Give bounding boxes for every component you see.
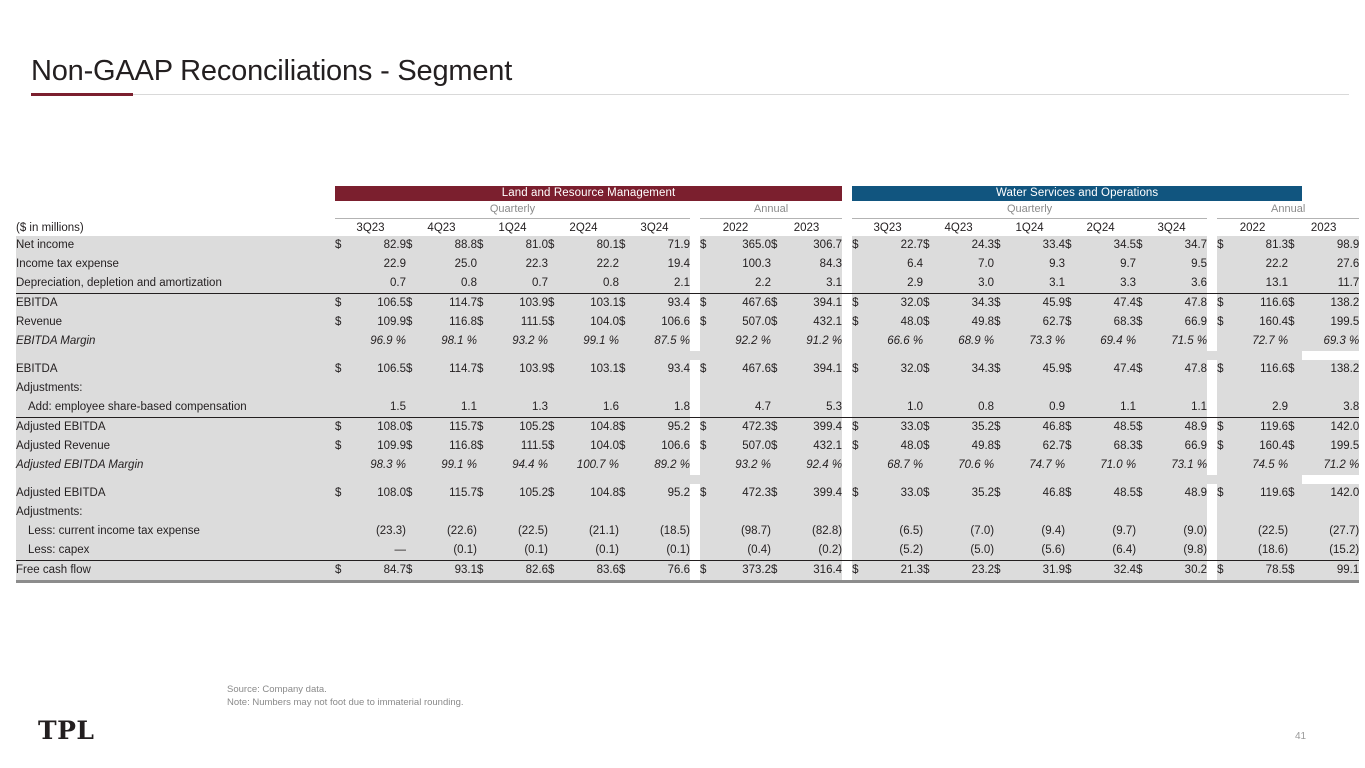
lrm-annual-currency-1 bbox=[771, 456, 785, 475]
lrm-annual-currency-0: $ bbox=[700, 418, 714, 438]
wso-quarterly-value-0: 32.0 bbox=[866, 360, 923, 379]
wso-annual-value-1: 99.1 bbox=[1302, 561, 1359, 582]
lrm-annual-currency-1: $ bbox=[771, 484, 785, 503]
lrm-quarterly-currency-1 bbox=[406, 456, 420, 475]
lrm-quarterly-currency-1 bbox=[406, 274, 420, 294]
lrm-quarterly-value-3 bbox=[562, 503, 619, 522]
lrm-quarterly-currency-2 bbox=[477, 456, 491, 475]
wso-quarterly-value-2: (9.4) bbox=[1008, 522, 1065, 541]
wso-annual-currency-1 bbox=[1288, 255, 1302, 274]
wso-annual-currency-0 bbox=[1217, 503, 1231, 522]
lrm-quarterly-currency-4: $ bbox=[619, 418, 633, 438]
wso-quarterly-value-3: 48.5 bbox=[1079, 484, 1136, 503]
wso-annual-value-1: 27.6 bbox=[1302, 255, 1359, 274]
wso-quarterly-currency-2 bbox=[994, 255, 1008, 274]
wso-quarterly-currency-1 bbox=[923, 379, 937, 398]
lrm-quarterly-currency-0: $ bbox=[335, 418, 349, 438]
wso-annual-value-1: 3.8 bbox=[1302, 398, 1359, 418]
wso-quarterly-currency-4: $ bbox=[1136, 418, 1150, 438]
lrm-quarterly-currency-4 bbox=[619, 379, 633, 398]
lrm-quarterly-value-0: 0.7 bbox=[349, 274, 406, 294]
wso-quarterly-value-0: 68.7 % bbox=[866, 456, 923, 475]
group-header-annual-lrm: Annual bbox=[700, 201, 842, 219]
lrm-annual-currency-1 bbox=[771, 332, 785, 351]
lrm-annual-currency-1 bbox=[771, 522, 785, 541]
lrm-quarterly-value-2: 105.2 bbox=[491, 418, 548, 438]
lrm-quarterly-value-2 bbox=[491, 379, 548, 398]
lrm-quarterly-currency-1 bbox=[406, 379, 420, 398]
lrm-annual-value-0: 92.2 % bbox=[714, 332, 771, 351]
wso-quarterly-currency-2: $ bbox=[994, 313, 1008, 332]
lrm-quarterly-value-2: (0.1) bbox=[491, 541, 548, 561]
wso-quarterly-currency-2 bbox=[994, 274, 1008, 294]
table-row: Income tax expense22.925.022.322.219.410… bbox=[16, 255, 1359, 274]
wso-quarterly-currency-0 bbox=[852, 255, 866, 274]
lrm-quarterly-currency-2: $ bbox=[477, 236, 491, 255]
table-row: Adjusted EBITDA Margin98.3 %99.1 %94.4 %… bbox=[16, 456, 1359, 475]
lrm-quarterly-currency-1 bbox=[406, 522, 420, 541]
wso-quarterly-value-1: 7.0 bbox=[937, 255, 994, 274]
wso-quarterly-currency-4: $ bbox=[1136, 236, 1150, 255]
lrm-quarterly-value-1: 115.7 bbox=[420, 484, 477, 503]
col-header-wso-1q24: 1Q24 bbox=[994, 219, 1065, 237]
lrm-quarterly-value-2: (22.5) bbox=[491, 522, 548, 541]
lrm-annual-currency-1 bbox=[771, 255, 785, 274]
wso-quarterly-value-2: 9.3 bbox=[1008, 255, 1065, 274]
wso-annual-value-0: 81.3 bbox=[1231, 236, 1288, 255]
wso-quarterly-currency-2: $ bbox=[994, 294, 1008, 314]
lrm-quarterly-value-3: 83.6 bbox=[562, 561, 619, 582]
lrm-quarterly-currency-2: $ bbox=[477, 418, 491, 438]
lrm-quarterly-currency-2 bbox=[477, 398, 491, 418]
lrm-quarterly-currency-4 bbox=[619, 398, 633, 418]
wso-quarterly-value-0: 21.3 bbox=[866, 561, 923, 582]
lrm-quarterly-currency-1 bbox=[406, 332, 420, 351]
row-label: Less: capex bbox=[16, 541, 326, 561]
wso-quarterly-currency-3 bbox=[1065, 456, 1079, 475]
row-label: Adjusted EBITDA bbox=[16, 484, 326, 503]
lrm-quarterly-currency-0: $ bbox=[335, 484, 349, 503]
lrm-quarterly-currency-0 bbox=[335, 379, 349, 398]
lrm-annual-currency-1 bbox=[771, 541, 785, 561]
lrm-annual-currency-1: $ bbox=[771, 561, 785, 582]
wso-annual-value-0: 116.6 bbox=[1231, 360, 1288, 379]
col-header-wso-3q23: 3Q23 bbox=[852, 219, 923, 237]
lrm-annual-currency-1 bbox=[771, 398, 785, 418]
wso-quarterly-value-1: (7.0) bbox=[937, 522, 994, 541]
wso-quarterly-currency-4 bbox=[1136, 398, 1150, 418]
wso-quarterly-value-2 bbox=[1008, 503, 1065, 522]
wso-quarterly-currency-1: $ bbox=[923, 561, 937, 582]
lrm-quarterly-value-2 bbox=[491, 503, 548, 522]
wso-quarterly-currency-3 bbox=[1065, 398, 1079, 418]
lrm-quarterly-value-1: (22.6) bbox=[420, 522, 477, 541]
wso-quarterly-currency-2: $ bbox=[994, 437, 1008, 456]
wso-quarterly-value-1: (5.0) bbox=[937, 541, 994, 561]
lrm-quarterly-value-2: 103.9 bbox=[491, 294, 548, 314]
lrm-quarterly-value-3: 104.0 bbox=[562, 437, 619, 456]
lrm-quarterly-value-0: 106.5 bbox=[349, 360, 406, 379]
wso-quarterly-currency-0 bbox=[852, 522, 866, 541]
wso-quarterly-value-1: 34.3 bbox=[937, 360, 994, 379]
rounding-note: Note: Numbers may not foot due to immate… bbox=[227, 697, 464, 710]
wso-annual-currency-0: $ bbox=[1217, 236, 1231, 255]
wso-annual-value-1: 199.5 bbox=[1302, 437, 1359, 456]
lrm-quarterly-value-3 bbox=[562, 379, 619, 398]
lrm-quarterly-currency-1: $ bbox=[406, 418, 420, 438]
wso-quarterly-currency-2 bbox=[994, 379, 1008, 398]
wso-quarterly-value-3 bbox=[1079, 503, 1136, 522]
lrm-quarterly-currency-3 bbox=[548, 398, 562, 418]
table-row: Revenue$109.9$116.8$111.5$104.0$106.6$50… bbox=[16, 313, 1359, 332]
lrm-annual-currency-1: $ bbox=[771, 313, 785, 332]
wso-quarterly-value-0: (5.2) bbox=[866, 541, 923, 561]
wso-annual-currency-0 bbox=[1217, 398, 1231, 418]
col-header-wso-2q24: 2Q24 bbox=[1065, 219, 1136, 237]
row-label: Adjustments: bbox=[16, 503, 326, 522]
lrm-quarterly-currency-3 bbox=[548, 379, 562, 398]
lrm-quarterly-value-1: 93.1 bbox=[420, 561, 477, 582]
wso-quarterly-currency-0 bbox=[852, 379, 866, 398]
lrm-annual-value-0: 2.2 bbox=[714, 274, 771, 294]
col-header-wso-2022: 2022 bbox=[1217, 219, 1288, 237]
lrm-quarterly-value-1: 114.7 bbox=[420, 294, 477, 314]
lrm-quarterly-currency-0: $ bbox=[335, 313, 349, 332]
wso-quarterly-currency-0: $ bbox=[852, 313, 866, 332]
wso-annual-currency-0 bbox=[1217, 541, 1231, 561]
segment-band-row: Land and Resource Management Water Servi… bbox=[16, 186, 1359, 201]
lrm-quarterly-value-2: 93.2 % bbox=[491, 332, 548, 351]
lrm-quarterly-currency-0 bbox=[335, 456, 349, 475]
wso-annual-currency-0 bbox=[1217, 522, 1231, 541]
lrm-quarterly-currency-2: $ bbox=[477, 484, 491, 503]
lrm-annual-currency-0 bbox=[700, 456, 714, 475]
wso-quarterly-value-2: 74.7 % bbox=[1008, 456, 1065, 475]
wso-quarterly-currency-2 bbox=[994, 541, 1008, 561]
lrm-quarterly-value-4: 19.4 bbox=[633, 255, 690, 274]
wso-quarterly-value-0: 33.0 bbox=[866, 484, 923, 503]
lrm-annual-value-1: 84.3 bbox=[785, 255, 842, 274]
lrm-annual-currency-0: $ bbox=[700, 313, 714, 332]
wso-quarterly-value-4: 66.9 bbox=[1150, 313, 1207, 332]
wso-annual-value-1 bbox=[1302, 503, 1359, 522]
wso-annual-value-1: 199.5 bbox=[1302, 313, 1359, 332]
group-header-quarterly-lrm: Quarterly bbox=[335, 201, 690, 219]
lrm-quarterly-value-4 bbox=[633, 503, 690, 522]
lrm-annual-value-0: 373.2 bbox=[714, 561, 771, 582]
wso-annual-value-1: 138.2 bbox=[1302, 294, 1359, 314]
lrm-quarterly-currency-4 bbox=[619, 274, 633, 294]
lrm-quarterly-value-4: 93.4 bbox=[633, 360, 690, 379]
lrm-annual-currency-0: $ bbox=[700, 236, 714, 255]
lrm-quarterly-currency-3 bbox=[548, 456, 562, 475]
lrm-quarterly-currency-1: $ bbox=[406, 437, 420, 456]
lrm-annual-value-1: 399.4 bbox=[785, 484, 842, 503]
lrm-quarterly-value-1: 0.8 bbox=[420, 274, 477, 294]
row-label: Free cash flow bbox=[16, 561, 326, 582]
lrm-quarterly-value-4: 87.5 % bbox=[633, 332, 690, 351]
page-title: Non-GAAP Reconciliations - Segment bbox=[31, 52, 512, 90]
wso-quarterly-currency-1: $ bbox=[923, 418, 937, 438]
wso-quarterly-currency-3: $ bbox=[1065, 313, 1079, 332]
lrm-quarterly-value-2: 22.3 bbox=[491, 255, 548, 274]
wso-quarterly-currency-2 bbox=[994, 398, 1008, 418]
wso-quarterly-currency-0 bbox=[852, 456, 866, 475]
wso-quarterly-currency-3: $ bbox=[1065, 294, 1079, 314]
lrm-annual-value-0: 507.0 bbox=[714, 313, 771, 332]
lrm-quarterly-value-3: 104.0 bbox=[562, 313, 619, 332]
group-header-quarterly-wso: Quarterly bbox=[852, 201, 1207, 219]
wso-annual-value-1: 71.2 % bbox=[1302, 456, 1359, 475]
wso-quarterly-currency-0: $ bbox=[852, 236, 866, 255]
lrm-quarterly-currency-2: $ bbox=[477, 313, 491, 332]
wso-quarterly-currency-4 bbox=[1136, 503, 1150, 522]
lrm-annual-currency-1 bbox=[771, 503, 785, 522]
wso-annual-currency-1: $ bbox=[1288, 418, 1302, 438]
wso-annual-currency-0: $ bbox=[1217, 561, 1231, 582]
lrm-quarterly-currency-3 bbox=[548, 503, 562, 522]
lrm-quarterly-value-0: 98.3 % bbox=[349, 456, 406, 475]
lrm-quarterly-value-0: 109.9 bbox=[349, 437, 406, 456]
table-row: Less: capex—(0.1)(0.1)(0.1)(0.1)(0.4)(0.… bbox=[16, 541, 1359, 561]
lrm-quarterly-value-4: 89.2 % bbox=[633, 456, 690, 475]
source-note: Source: Company data. bbox=[227, 684, 464, 697]
lrm-quarterly-currency-0 bbox=[335, 255, 349, 274]
table-row: Free cash flow$84.7$93.1$82.6$83.6$76.6$… bbox=[16, 561, 1359, 582]
wso-quarterly-currency-3 bbox=[1065, 255, 1079, 274]
wso-quarterly-value-3: 68.3 bbox=[1079, 437, 1136, 456]
wso-quarterly-value-4: 3.6 bbox=[1150, 274, 1207, 294]
col-header-wso-4q23: 4Q23 bbox=[923, 219, 994, 237]
lrm-annual-currency-1 bbox=[771, 379, 785, 398]
wso-quarterly-currency-4: $ bbox=[1136, 437, 1150, 456]
table-spacer-row bbox=[16, 475, 1359, 484]
row-label: Adjusted Revenue bbox=[16, 437, 326, 456]
table-row: Net income$82.9$88.8$81.0$80.1$71.9$365.… bbox=[16, 236, 1359, 255]
lrm-quarterly-currency-1: $ bbox=[406, 313, 420, 332]
wso-quarterly-value-4: 73.1 % bbox=[1150, 456, 1207, 475]
wso-quarterly-value-0: 6.4 bbox=[866, 255, 923, 274]
lrm-quarterly-value-0: 106.5 bbox=[349, 294, 406, 314]
lrm-quarterly-currency-4 bbox=[619, 255, 633, 274]
lrm-annual-value-0: 472.3 bbox=[714, 418, 771, 438]
wso-quarterly-value-1 bbox=[937, 503, 994, 522]
col-header-wso-3q24: 3Q24 bbox=[1136, 219, 1207, 237]
wso-quarterly-currency-3: $ bbox=[1065, 561, 1079, 582]
wso-quarterly-currency-4 bbox=[1136, 456, 1150, 475]
wso-annual-currency-1 bbox=[1288, 541, 1302, 561]
wso-annual-currency-0 bbox=[1217, 274, 1231, 294]
lrm-quarterly-currency-4: $ bbox=[619, 294, 633, 314]
table-row: Add: employee share-based compensation1.… bbox=[16, 398, 1359, 418]
wso-annual-currency-0 bbox=[1217, 379, 1231, 398]
lrm-quarterly-value-1 bbox=[420, 379, 477, 398]
lrm-annual-value-1: (82.8) bbox=[785, 522, 842, 541]
wso-quarterly-currency-4: $ bbox=[1136, 561, 1150, 582]
wso-quarterly-value-0 bbox=[866, 503, 923, 522]
lrm-annual-value-1: 5.3 bbox=[785, 398, 842, 418]
lrm-annual-currency-0: $ bbox=[700, 437, 714, 456]
wso-quarterly-currency-4: $ bbox=[1136, 313, 1150, 332]
lrm-annual-value-1 bbox=[785, 379, 842, 398]
lrm-quarterly-value-2: 111.5 bbox=[491, 437, 548, 456]
lrm-quarterly-currency-1 bbox=[406, 398, 420, 418]
wso-quarterly-currency-3 bbox=[1065, 541, 1079, 561]
lrm-quarterly-value-4: 95.2 bbox=[633, 418, 690, 438]
wso-quarterly-value-2 bbox=[1008, 379, 1065, 398]
lrm-quarterly-value-0: 109.9 bbox=[349, 313, 406, 332]
wso-quarterly-value-2: 62.7 bbox=[1008, 437, 1065, 456]
lrm-quarterly-value-3: 104.8 bbox=[562, 418, 619, 438]
lrm-quarterly-currency-4: $ bbox=[619, 236, 633, 255]
lrm-quarterly-currency-0: $ bbox=[335, 236, 349, 255]
lrm-annual-currency-0 bbox=[700, 541, 714, 561]
lrm-quarterly-currency-1: $ bbox=[406, 561, 420, 582]
lrm-quarterly-value-2: 1.3 bbox=[491, 398, 548, 418]
wso-quarterly-value-2: 46.8 bbox=[1008, 418, 1065, 438]
wso-annual-value-1: 98.9 bbox=[1302, 236, 1359, 255]
lrm-annual-value-1: 316.4 bbox=[785, 561, 842, 582]
wso-quarterly-currency-1 bbox=[923, 541, 937, 561]
page-number: 41 bbox=[1295, 731, 1306, 742]
wso-annual-currency-1: $ bbox=[1288, 437, 1302, 456]
wso-annual-value-0 bbox=[1231, 379, 1288, 398]
wso-annual-value-1: 142.0 bbox=[1302, 418, 1359, 438]
lrm-quarterly-currency-4: $ bbox=[619, 437, 633, 456]
wso-annual-currency-0: $ bbox=[1217, 360, 1231, 379]
wso-quarterly-value-1: 24.3 bbox=[937, 236, 994, 255]
wso-annual-currency-0: $ bbox=[1217, 437, 1231, 456]
wso-quarterly-value-0: (6.5) bbox=[866, 522, 923, 541]
wso-quarterly-currency-0 bbox=[852, 541, 866, 561]
table-row: Adjustments: bbox=[16, 503, 1359, 522]
lrm-quarterly-currency-2 bbox=[477, 379, 491, 398]
lrm-annual-value-1: 306.7 bbox=[785, 236, 842, 255]
lrm-annual-currency-0 bbox=[700, 255, 714, 274]
col-header-wso-2023: 2023 bbox=[1288, 219, 1359, 237]
wso-quarterly-value-3: 68.3 bbox=[1079, 313, 1136, 332]
wso-quarterly-value-4: (9.8) bbox=[1150, 541, 1207, 561]
lrm-quarterly-value-0: 22.9 bbox=[349, 255, 406, 274]
lrm-quarterly-currency-2: $ bbox=[477, 561, 491, 582]
wso-quarterly-value-2: 3.1 bbox=[1008, 274, 1065, 294]
col-header-lrm-1q24: 1Q24 bbox=[477, 219, 548, 237]
lrm-quarterly-currency-1: $ bbox=[406, 484, 420, 503]
lrm-annual-currency-0: $ bbox=[700, 561, 714, 582]
wso-annual-value-0: 78.5 bbox=[1231, 561, 1288, 582]
lrm-annual-currency-0: $ bbox=[700, 294, 714, 314]
lrm-quarterly-currency-0: $ bbox=[335, 561, 349, 582]
wso-quarterly-value-4: 47.8 bbox=[1150, 294, 1207, 314]
wso-quarterly-value-3: 47.4 bbox=[1079, 294, 1136, 314]
wso-annual-value-0: 160.4 bbox=[1231, 437, 1288, 456]
wso-annual-value-0: (22.5) bbox=[1231, 522, 1288, 541]
lrm-annual-value-1 bbox=[785, 503, 842, 522]
wso-quarterly-value-1: 3.0 bbox=[937, 274, 994, 294]
wso-annual-currency-1 bbox=[1288, 456, 1302, 475]
lrm-quarterly-currency-0 bbox=[335, 522, 349, 541]
wso-annual-value-1: 142.0 bbox=[1302, 484, 1359, 503]
lrm-annual-value-1: 394.1 bbox=[785, 294, 842, 314]
lrm-quarterly-currency-3: $ bbox=[548, 484, 562, 503]
table-row: Adjusted EBITDA$108.0$115.7$105.2$104.8$… bbox=[16, 484, 1359, 503]
wso-quarterly-currency-2: $ bbox=[994, 561, 1008, 582]
wso-quarterly-currency-2 bbox=[994, 503, 1008, 522]
wso-quarterly-currency-1: $ bbox=[923, 313, 937, 332]
wso-quarterly-currency-0 bbox=[852, 503, 866, 522]
lrm-annual-currency-0 bbox=[700, 274, 714, 294]
wso-quarterly-value-0: 66.6 % bbox=[866, 332, 923, 351]
wso-annual-currency-0: $ bbox=[1217, 294, 1231, 314]
segment-band-water-services-and-operations: Water Services and Operations bbox=[852, 186, 1302, 201]
lrm-annual-value-0: 507.0 bbox=[714, 437, 771, 456]
lrm-quarterly-value-3: 99.1 % bbox=[562, 332, 619, 351]
wso-quarterly-currency-0: $ bbox=[852, 360, 866, 379]
wso-quarterly-currency-4: $ bbox=[1136, 360, 1150, 379]
wso-quarterly-value-2: 46.8 bbox=[1008, 484, 1065, 503]
col-header-lrm-2q24: 2Q24 bbox=[548, 219, 619, 237]
lrm-quarterly-value-2: 0.7 bbox=[491, 274, 548, 294]
lrm-quarterly-value-1: 1.1 bbox=[420, 398, 477, 418]
lrm-quarterly-value-2: 105.2 bbox=[491, 484, 548, 503]
lrm-quarterly-currency-4 bbox=[619, 456, 633, 475]
lrm-quarterly-value-3: 1.6 bbox=[562, 398, 619, 418]
wso-quarterly-currency-4 bbox=[1136, 522, 1150, 541]
wso-quarterly-value-0: 1.0 bbox=[866, 398, 923, 418]
lrm-quarterly-currency-0: $ bbox=[335, 437, 349, 456]
wso-quarterly-currency-4 bbox=[1136, 379, 1150, 398]
wso-annual-value-0 bbox=[1231, 503, 1288, 522]
wso-annual-currency-1: $ bbox=[1288, 294, 1302, 314]
wso-quarterly-currency-2 bbox=[994, 456, 1008, 475]
lrm-quarterly-value-4: 106.6 bbox=[633, 313, 690, 332]
lrm-quarterly-value-2: 103.9 bbox=[491, 360, 548, 379]
wso-quarterly-value-4: 9.5 bbox=[1150, 255, 1207, 274]
row-label: Revenue bbox=[16, 313, 326, 332]
lrm-quarterly-value-3: 104.8 bbox=[562, 484, 619, 503]
wso-quarterly-value-3: 34.5 bbox=[1079, 236, 1136, 255]
lrm-annual-value-1: 399.4 bbox=[785, 418, 842, 438]
wso-quarterly-currency-4: $ bbox=[1136, 484, 1150, 503]
wso-quarterly-value-0: 2.9 bbox=[866, 274, 923, 294]
wso-quarterly-currency-1 bbox=[923, 332, 937, 351]
wso-quarterly-currency-0: $ bbox=[852, 437, 866, 456]
wso-quarterly-currency-2 bbox=[994, 332, 1008, 351]
lrm-annual-value-0: 100.3 bbox=[714, 255, 771, 274]
wso-quarterly-currency-0: $ bbox=[852, 561, 866, 582]
wso-annual-value-0: 13.1 bbox=[1231, 274, 1288, 294]
lrm-annual-currency-0: $ bbox=[700, 360, 714, 379]
lrm-quarterly-currency-3: $ bbox=[548, 313, 562, 332]
table-row: EBITDA$106.5$114.7$103.9$103.1$93.4$467.… bbox=[16, 294, 1359, 314]
wso-annual-currency-1: $ bbox=[1288, 561, 1302, 582]
wso-quarterly-value-1: 35.2 bbox=[937, 418, 994, 438]
wso-quarterly-value-3: 47.4 bbox=[1079, 360, 1136, 379]
wso-quarterly-value-0: 48.0 bbox=[866, 313, 923, 332]
wso-quarterly-value-3: 32.4 bbox=[1079, 561, 1136, 582]
wso-quarterly-value-4: 71.5 % bbox=[1150, 332, 1207, 351]
lrm-quarterly-currency-2 bbox=[477, 332, 491, 351]
wso-quarterly-value-4: 66.9 bbox=[1150, 437, 1207, 456]
lrm-annual-currency-0 bbox=[700, 522, 714, 541]
col-header-lrm-3q23: 3Q23 bbox=[335, 219, 406, 237]
col-header-lrm-2022: 2022 bbox=[700, 219, 771, 237]
lrm-quarterly-value-0: 108.0 bbox=[349, 418, 406, 438]
wso-quarterly-value-4: 34.7 bbox=[1150, 236, 1207, 255]
wso-quarterly-currency-1 bbox=[923, 522, 937, 541]
wso-annual-currency-1 bbox=[1288, 503, 1302, 522]
lrm-annual-currency-0 bbox=[700, 398, 714, 418]
